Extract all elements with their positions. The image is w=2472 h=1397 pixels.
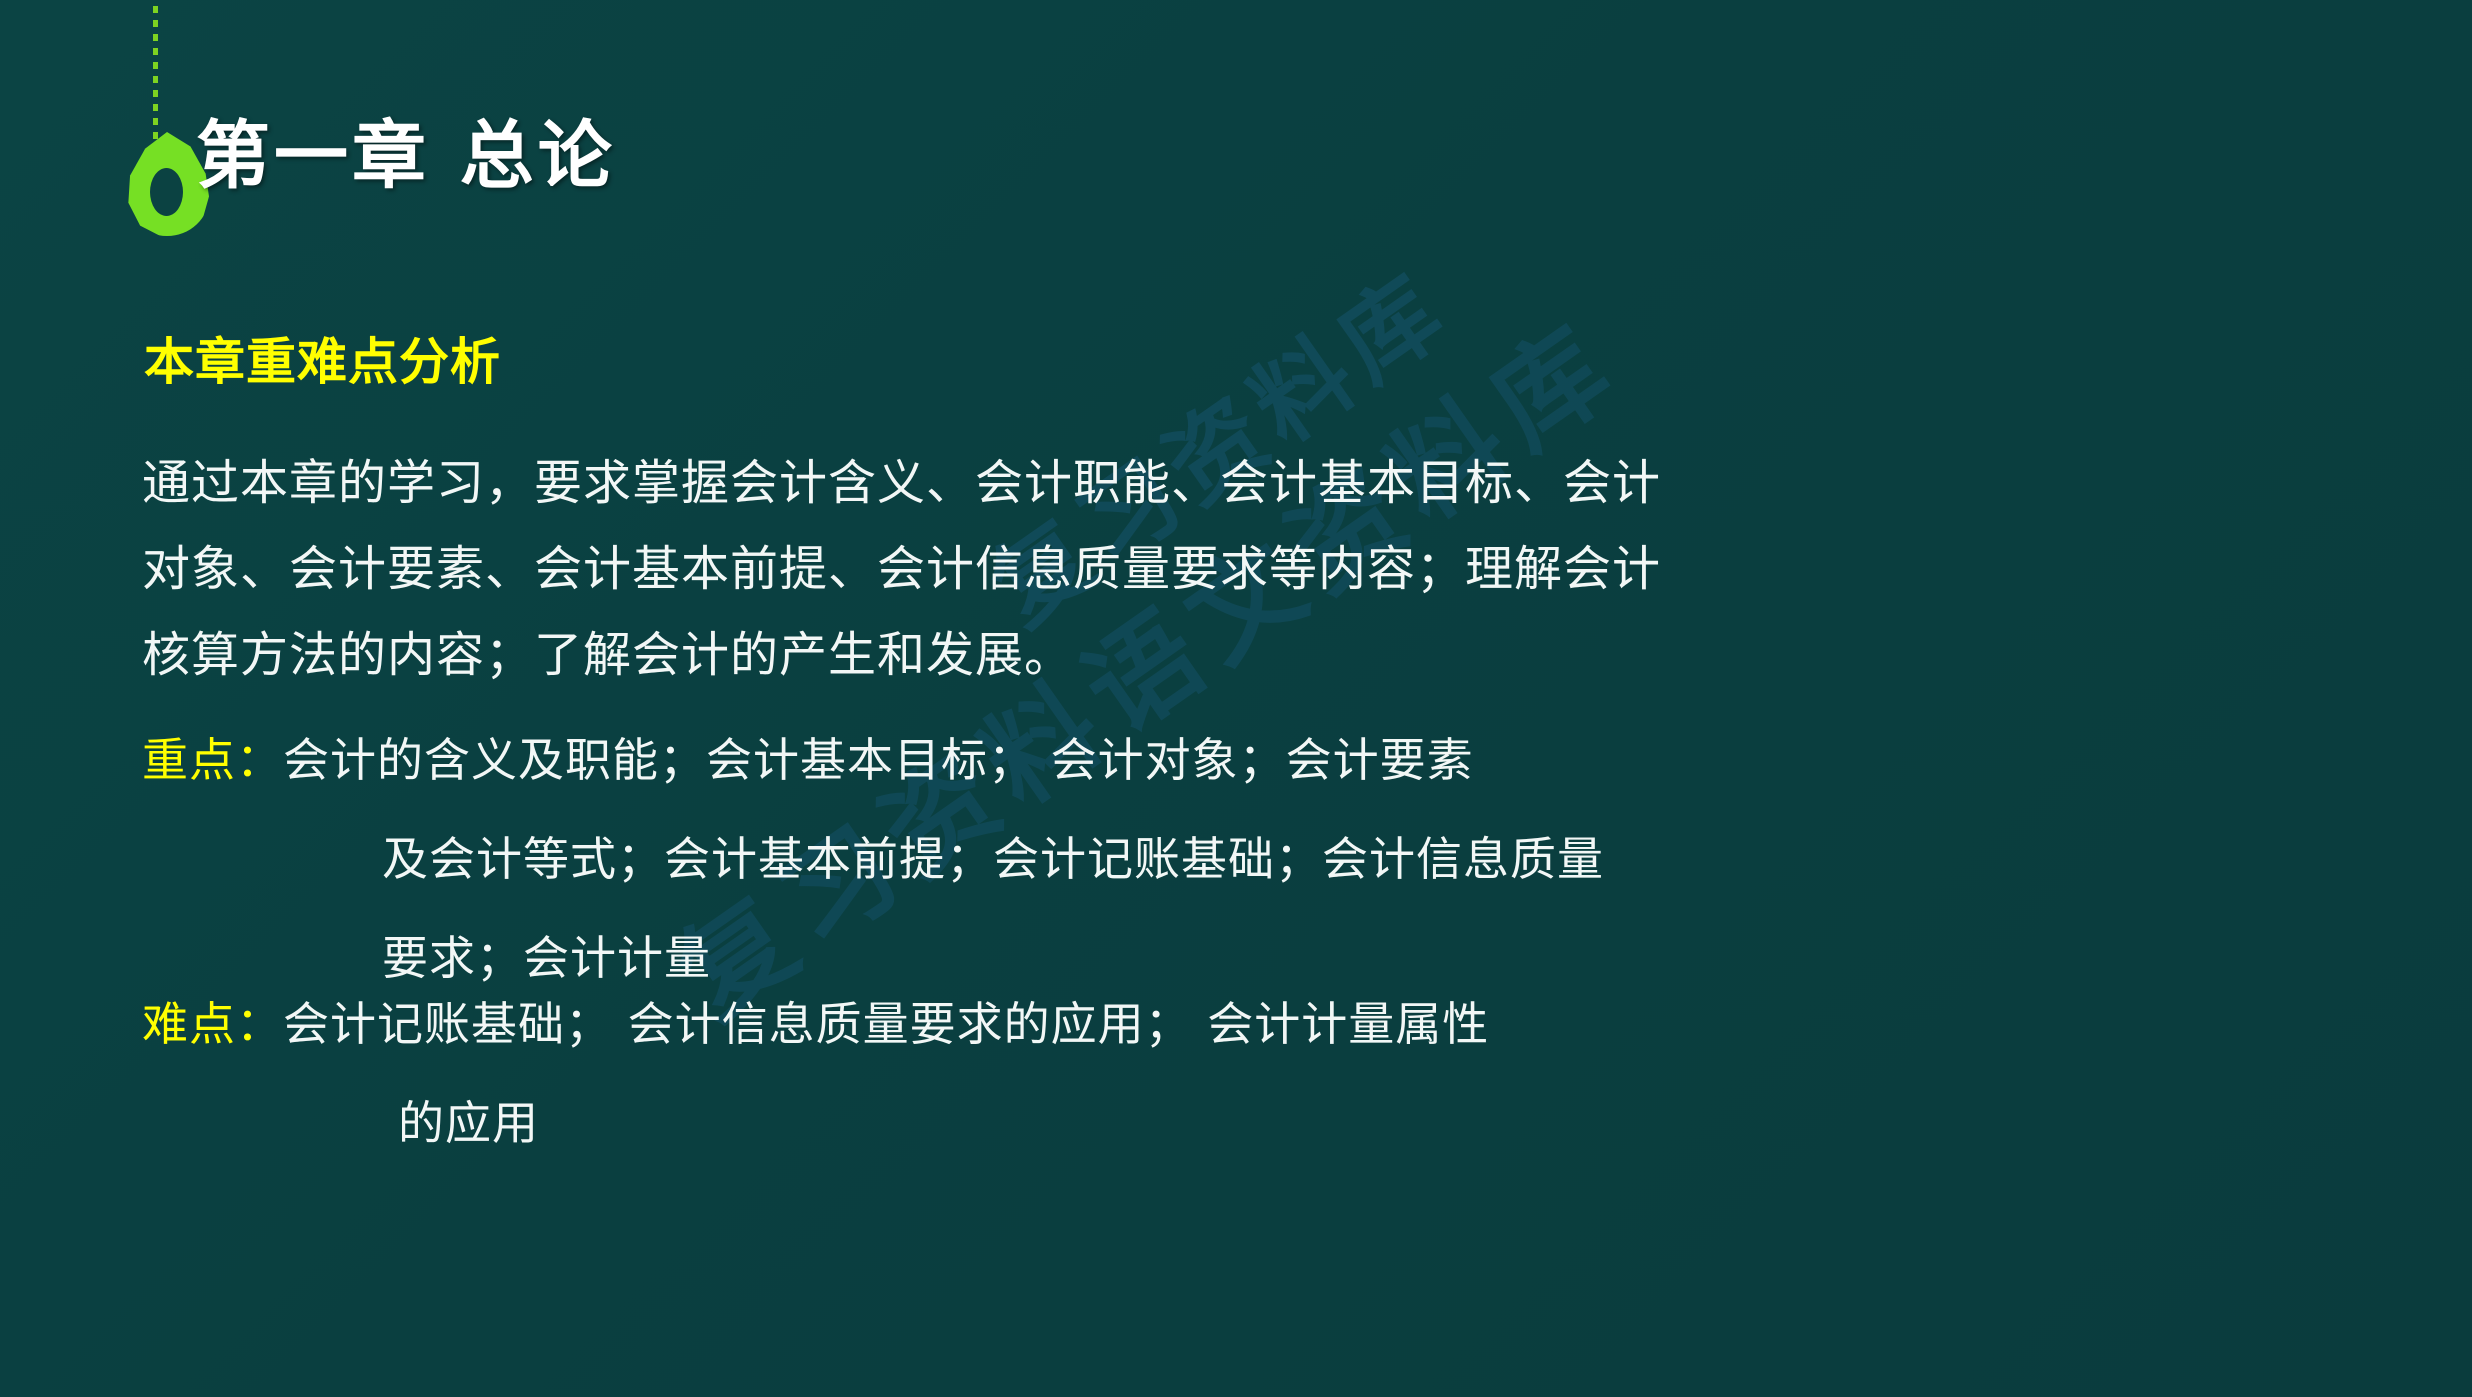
key-points-block: 重点：会计的含义及职能；会计基本目标； 会计对象；会计要素 及会计等式；会计基本… (142, 716, 1604, 1013)
difficult-points-label: 难点： (142, 997, 283, 1051)
section-heading: 本章重难点分析 (144, 322, 501, 394)
paragraph-line: 通过本章的学习，要求掌握会计含义、会计职能、会计基本目标、会计 (142, 440, 1842, 526)
difficult-points-text: 会计记账基础； 会计信息质量要求的应用； 会计计量属性 (283, 997, 1489, 1051)
key-points-label: 重点： (142, 733, 283, 787)
key-points-text: 要求；会计计量 (382, 931, 711, 985)
difficult-points-text: 的应用 (398, 1096, 539, 1150)
paragraph-line: 核算方法的内容；了解会计的产生和发展。 (142, 612, 1842, 698)
key-points-first-line: 重点：会计的含义及职能；会计基本目标； 会计对象；会计要素 (142, 716, 1604, 815)
intro-paragraph: 通过本章的学习，要求掌握会计含义、会计职能、会计基本目标、会计 对象、会计要素、… (142, 440, 1842, 698)
key-points-line: 及会计等式；会计基本前提；会计记账基础；会计信息质量 (142, 815, 1604, 914)
water-drop-hole (150, 168, 183, 216)
dotted-line-icon (153, 0, 158, 147)
presentation-slide: 复习资料语文资料库 复习资料库 第一章 总论 本章重难点分析 通过本章的学习，要… (0, 0, 2472, 1397)
difficult-points-line: 的应用 (142, 1079, 1489, 1178)
page-title: 第一章 总论 (196, 96, 616, 203)
difficult-points-first-line: 难点：会计记账基础； 会计信息质量要求的应用； 会计计量属性 (142, 980, 1489, 1079)
key-points-text: 会计的含义及职能；会计基本目标； 会计对象；会计要素 (283, 733, 1474, 787)
difficult-points-block: 难点：会计记账基础； 会计信息质量要求的应用； 会计计量属性 的应用 (142, 980, 1489, 1178)
key-points-text: 及会计等式；会计基本前提；会计记账基础；会计信息质量 (382, 832, 1604, 886)
paragraph-line: 对象、会计要素、会计基本前提、会计信息质量要求等内容；理解会计 (142, 526, 1842, 612)
